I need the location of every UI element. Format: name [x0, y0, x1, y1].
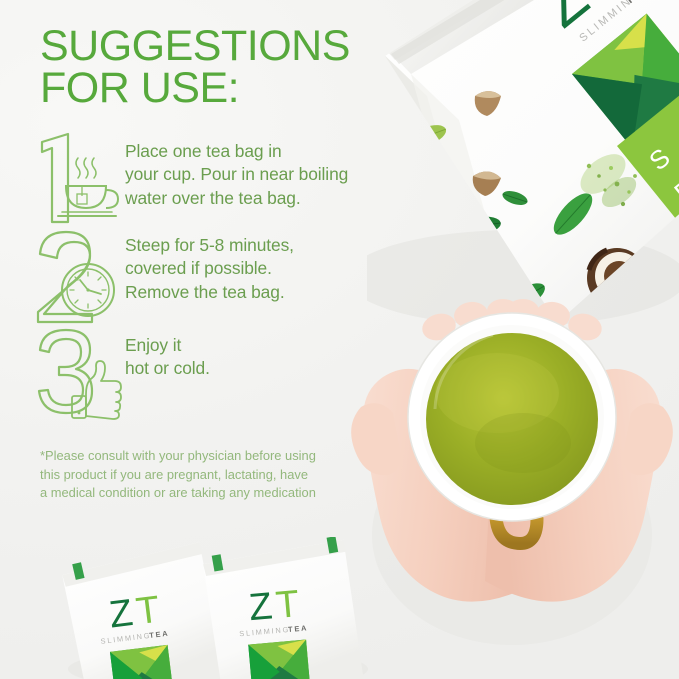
- step-3-line-2: hot or cold.: [125, 357, 430, 380]
- steam-icon: [76, 158, 96, 178]
- step-number-1: [30, 128, 122, 228]
- instructions-panel: SUGGESTIONS FOR USE:: [0, 0, 430, 679]
- step-1-line-1: Place one tea bag in: [125, 140, 430, 163]
- disclaimer-line-1: *Please consult with your physician befo…: [40, 447, 370, 466]
- page-title-line1: SUGGESTIONS: [40, 26, 410, 68]
- page-title-line2: FOR USE:: [40, 68, 410, 110]
- step-2-line-1: Steep for 5-8 minutes,: [125, 234, 430, 257]
- disclaimer-line-3: a medical condition or are taking any me…: [40, 484, 370, 503]
- clock-icon: [62, 264, 114, 316]
- teacup: [408, 313, 616, 521]
- step-text-3: Enjoy it hot or cold.: [125, 324, 430, 381]
- step-item-1: Place one tea bag in your cup. Pour in n…: [30, 128, 430, 226]
- step-number-3: [30, 324, 122, 424]
- infographic-canvas: Z T SLIMMING TEA S L: [0, 0, 679, 679]
- step-item-2: Steep for 5-8 minutes, covered if possib…: [30, 226, 430, 324]
- step-2-line-3: Remove the tea bag.: [125, 281, 430, 304]
- steps-list: Place one tea bag in your cup. Pour in n…: [30, 128, 430, 422]
- step-text-2: Steep for 5-8 minutes, covered if possib…: [125, 226, 430, 304]
- disclaimer-line-2: this product if you are pregnant, lactat…: [40, 466, 370, 485]
- disclaimer-text: *Please consult with your physician befo…: [40, 447, 370, 503]
- step-1-line-2: your cup. Pour in near boiling: [125, 163, 430, 186]
- step-2-line-2: covered if possible.: [125, 257, 430, 280]
- step-1-line-3: water over the tea bag.: [125, 187, 430, 210]
- step-3-line-1: Enjoy it: [125, 334, 430, 357]
- page-title: SUGGESTIONS FOR USE:: [40, 26, 410, 109]
- step-number-2: [30, 226, 122, 326]
- step-item-3: Enjoy it hot or cold.: [30, 324, 430, 422]
- step-text-1: Place one tea bag in your cup. Pour in n…: [125, 128, 430, 210]
